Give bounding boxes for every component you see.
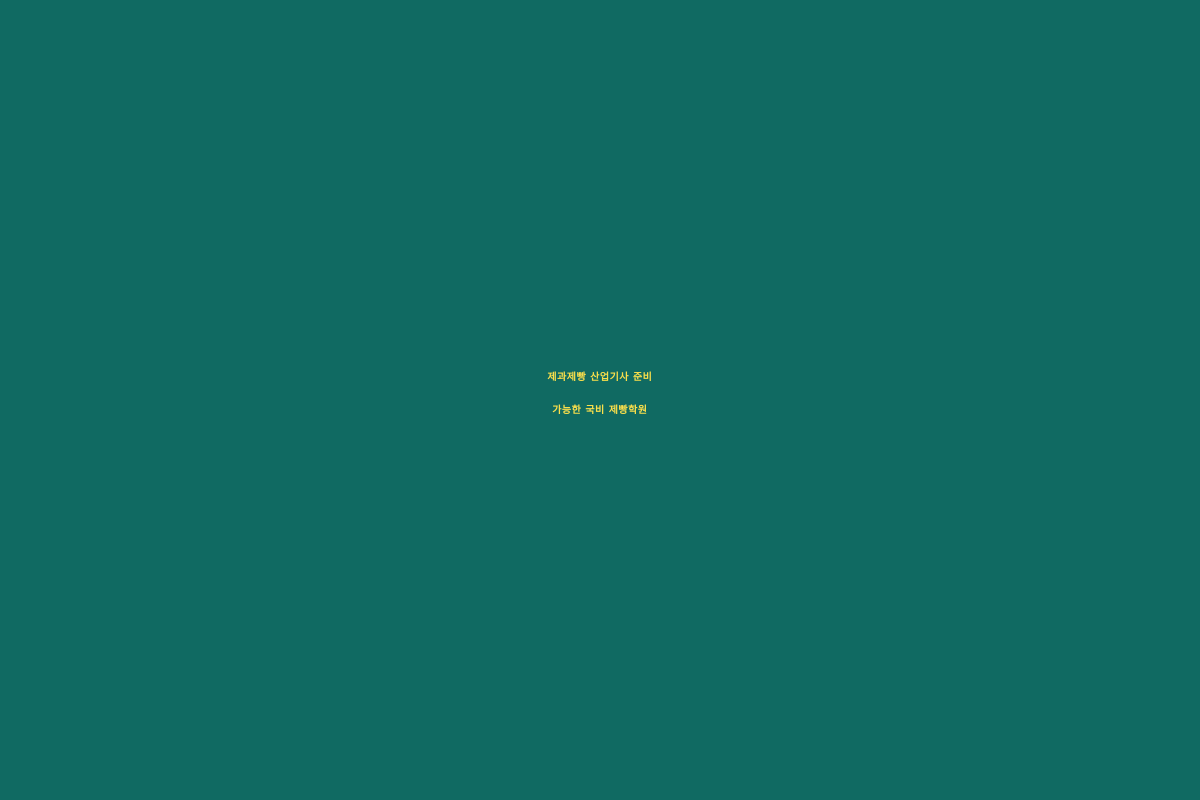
headline-line-2: 가능한 국비 제빵학원: [40, 406, 1160, 417]
text-banner: 제과제빵 산업기사 준비 가능한 국비 제빵학원: [0, 0, 1200, 800]
headline-block: 제과제빵 산업기사 준비 가능한 국비 제빵학원: [0, 373, 1200, 416]
headline-line-1: 제과제빵 산업기사 준비: [40, 373, 1160, 384]
